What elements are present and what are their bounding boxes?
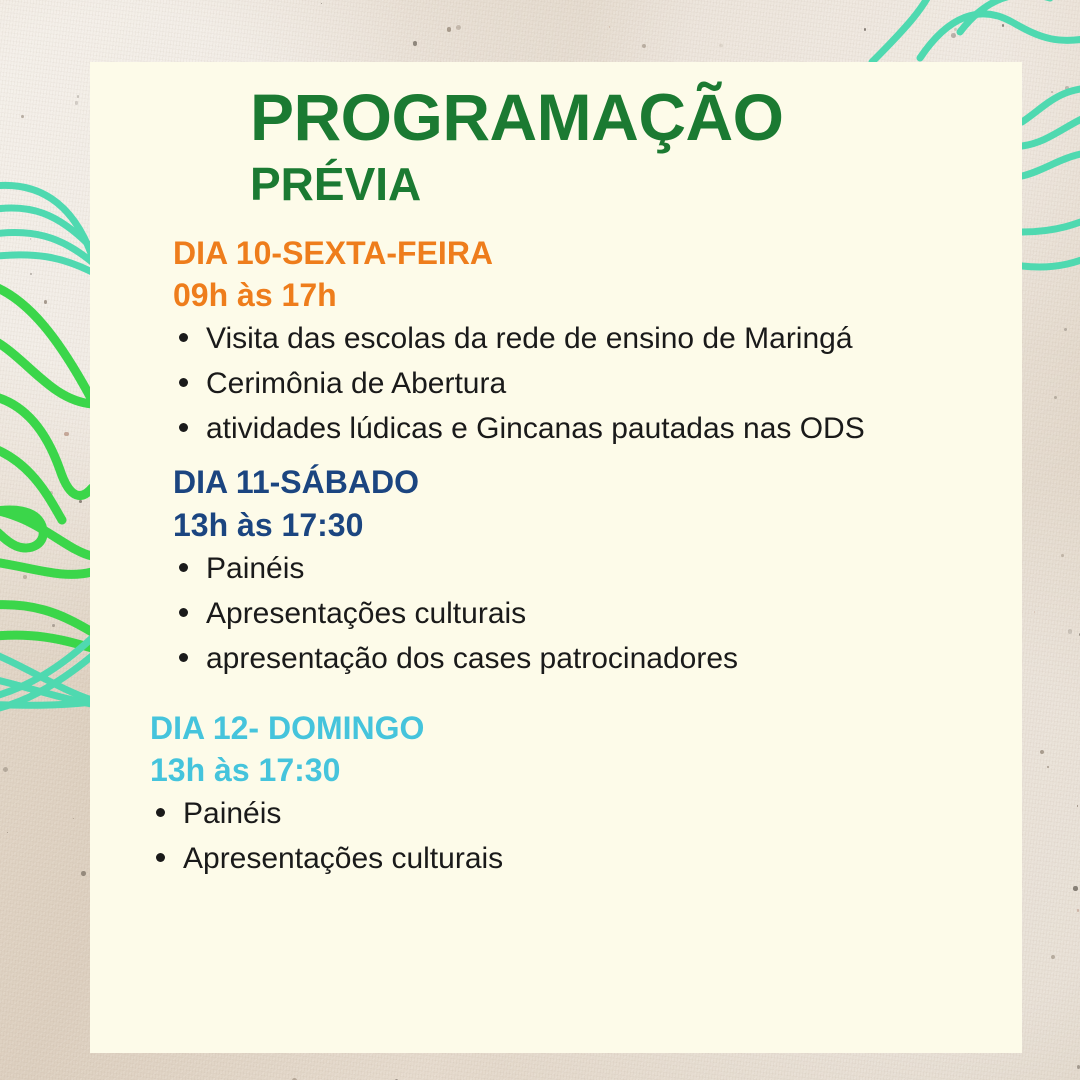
day-section-2: DIA 11-SÁBADO13h às 17:30PainéisApresent… xyxy=(90,461,1022,680)
poster-title-block: PROGRAMAÇÃO PRÉVIA xyxy=(250,84,784,208)
day-title: DIA 12- DOMINGO xyxy=(150,707,1022,749)
bullet-icon xyxy=(179,653,188,662)
list-item-label: atividades lúdicas e Gincanas pautadas n… xyxy=(206,412,865,445)
day-title: DIA 11-SÁBADO xyxy=(173,461,1022,503)
list-item-label: Painéis xyxy=(183,797,281,830)
list-item: Painéis xyxy=(173,546,948,591)
day-title: DIA 10-SEXTA-FEIRA xyxy=(173,232,1022,274)
bullet-icon xyxy=(179,333,188,342)
bullet-icon xyxy=(179,563,188,572)
list-item-label: Cerimônia de Abertura xyxy=(206,367,506,400)
bullet-icon xyxy=(156,808,165,817)
bullet-icon xyxy=(179,378,188,387)
list-item-label: Painéis xyxy=(206,552,304,585)
bullet-icon xyxy=(156,853,165,862)
programme-card: PROGRAMAÇÃO PRÉVIA DIA 10-SEXTA-FEIRA09h… xyxy=(90,62,1022,1053)
list-item-label: Apresentações culturais xyxy=(183,842,503,875)
list-item-label: apresentação dos cases patrocinadores xyxy=(206,642,738,675)
day-time: 13h às 17:30 xyxy=(173,504,1022,546)
list-item-label: Apresentações culturais xyxy=(206,597,526,630)
list-item: Painéis xyxy=(150,791,925,836)
schedule-sections: DIA 10-SEXTA-FEIRA09h às 17hVisita das e… xyxy=(90,232,1022,881)
poster-canvas: PROGRAMAÇÃO PRÉVIA DIA 10-SEXTA-FEIRA09h… xyxy=(0,0,1080,1080)
day-time: 13h às 17:30 xyxy=(150,749,1022,791)
section-gap xyxy=(90,451,1022,461)
day-time: 09h às 17h xyxy=(173,274,1022,316)
bullet-icon xyxy=(179,608,188,617)
day-section-3: DIA 12- DOMINGO13h às 17:30PainéisAprese… xyxy=(90,707,1022,881)
day-item-list: PainéisApresentações culturais xyxy=(150,791,925,881)
list-item-label: Visita das escolas da rede de ensino de … xyxy=(206,322,853,355)
day-item-list: PainéisApresentações culturaisapresentaç… xyxy=(173,546,948,681)
list-item: Apresentações culturais xyxy=(150,836,925,881)
page-title: PROGRAMAÇÃO xyxy=(250,84,784,150)
list-item: Apresentações culturais xyxy=(173,591,948,636)
day-item-list: Visita das escolas da rede de ensino de … xyxy=(173,316,948,451)
list-item: atividades lúdicas e Gincanas pautadas n… xyxy=(173,406,948,451)
day-section-1: DIA 10-SEXTA-FEIRA09h às 17hVisita das e… xyxy=(90,232,1022,451)
page-subtitle: PRÉVIA xyxy=(250,160,784,208)
section-gap xyxy=(90,681,1022,707)
bullet-icon xyxy=(179,423,188,432)
list-item: Cerimônia de Abertura xyxy=(173,361,948,406)
list-item: apresentação dos cases patrocinadores xyxy=(173,636,948,681)
list-item: Visita das escolas da rede de ensino de … xyxy=(173,316,948,361)
